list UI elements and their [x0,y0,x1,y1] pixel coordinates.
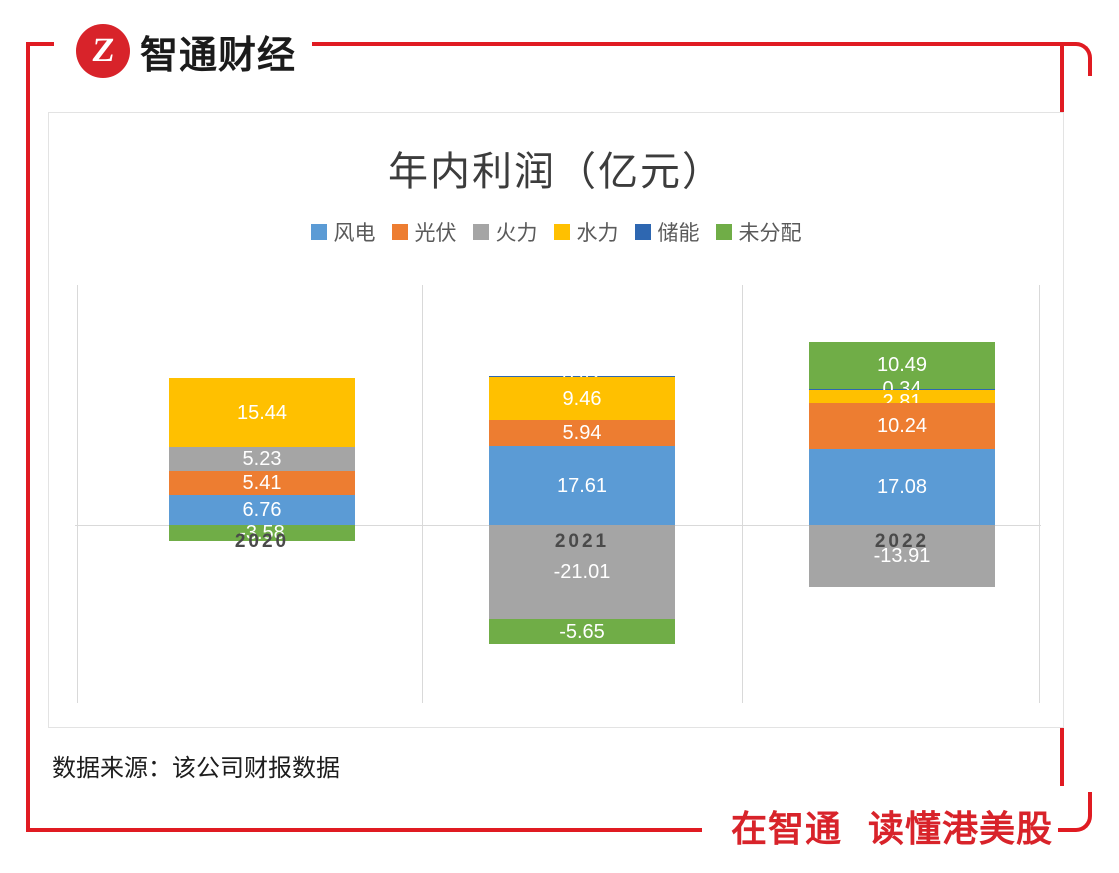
legend-item-水力[interactable]: 水力 [554,217,619,247]
chart-title: 年内利润（亿元） [49,139,1063,197]
bar-segment-2022-水力[interactable]: 2.81 [809,390,995,403]
chart-plot-area: 15.445.235.416.76-3.5820200.429.465.9417… [75,285,1041,703]
legend-label: 火力 [496,217,538,247]
bar-group-2022[interactable]: 10.490.342.8110.2417.08-13.912022 [809,285,995,703]
bar-segment-2021-光伏[interactable]: 5.94 [489,420,675,447]
bar-segment-value: 5.23 [243,449,282,469]
tagline-left: 在智通 [731,800,842,852]
bar-segment-value: -21.01 [554,562,611,582]
category-gridline [77,285,78,703]
bar-segment-value: 15.44 [237,403,287,423]
bar-group-2021[interactable]: 0.429.465.9417.61-21.01-5.652021 [489,285,675,703]
tagline: 在智通 读懂港美股 [731,800,1053,852]
category-gridline [742,285,743,703]
source-note: 数据来源：该公司财报数据 [52,748,340,783]
category-gridline [422,285,423,703]
frame-bottom-segment [26,828,702,832]
category-gridline [1039,285,1040,703]
bar-segment-2021-水力[interactable]: 9.46 [489,377,675,419]
frame-top-right-segment [294,42,1064,46]
bar-segment-value: 17.08 [877,477,927,497]
bar-segment-value: 6.76 [243,500,282,520]
bar-segment-value: 10.49 [877,355,927,375]
legend-item-光伏[interactable]: 光伏 [392,217,457,247]
legend-item-风电[interactable]: 风电 [311,217,376,247]
brand-logo: Z 智通财经 [60,20,312,82]
frame-corner-top-right [1058,42,1092,76]
bar-segment-value: 10.24 [877,416,927,436]
bar-segment-value: -5.65 [559,622,605,642]
legend-label: 风电 [334,217,376,247]
frame-corner-bottom-right [1058,792,1092,832]
legend-item-火力[interactable]: 火力 [473,217,538,247]
frame-left-segment [26,42,30,828]
category-label-2021: 2021 [489,531,675,553]
chart-legend: 风电光伏火力水力储能未分配 [49,217,1063,247]
category-label-2022: 2022 [809,531,995,553]
bar-segment-2020-风电[interactable]: 6.76 [169,495,355,525]
bar-segment-2020-光伏[interactable]: 5.41 [169,471,355,495]
bar-segment-value: 5.41 [243,473,282,493]
legend-swatch-icon [716,224,732,240]
legend-label: 未分配 [739,217,802,247]
bar-segment-value: 5.94 [563,423,602,443]
legend-swatch-icon [311,224,327,240]
brand-mark-icon: Z [76,24,130,78]
legend-swatch-icon [554,224,570,240]
bar-segment-2020-火力[interactable]: 5.23 [169,447,355,470]
legend-swatch-icon [635,224,651,240]
legend-item-未分配[interactable]: 未分配 [716,217,802,247]
bar-segment-2022-风电[interactable]: 17.08 [809,449,995,525]
bar-segment-2022-光伏[interactable]: 10.24 [809,403,995,449]
legend-swatch-icon [392,224,408,240]
legend-label: 光伏 [415,217,457,247]
brand-name: 智通财经 [140,24,296,79]
chart-card: 年内利润（亿元） 风电光伏火力水力储能未分配 15.445.235.416.76… [48,112,1064,728]
bar-segment-2020-水力[interactable]: 15.44 [169,378,355,447]
bar-group-2020[interactable]: 15.445.235.416.76-3.582020 [169,285,355,703]
bar-segment-2021-未分配[interactable]: -5.65 [489,619,675,644]
bar-segment-2021-风电[interactable]: 17.61 [489,446,675,525]
legend-label: 储能 [658,217,700,247]
frame-top-left-segment [26,42,54,46]
tagline-right: 读懂港美股 [868,800,1053,852]
bar-segment-value: 17.61 [557,476,607,496]
category-label-2020: 2020 [169,531,355,553]
legend-swatch-icon [473,224,489,240]
brand-mark-letter: Z [90,34,116,68]
bar-segment-value: 9.46 [563,389,602,409]
legend-label: 水力 [577,217,619,247]
legend-item-储能[interactable]: 储能 [635,217,700,247]
